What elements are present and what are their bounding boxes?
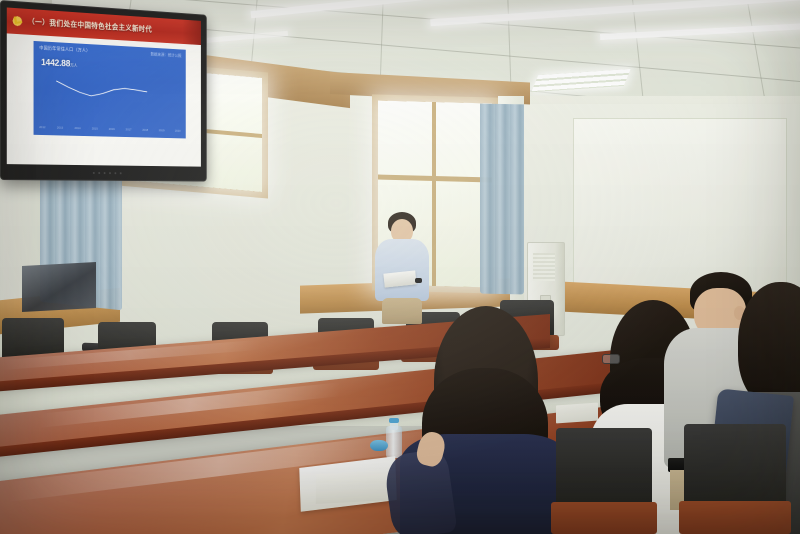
display-chin <box>7 166 201 179</box>
attendee-hair <box>738 282 800 408</box>
photo-scene: （一）我们处在中国特色社会主义新时代 中国历年常住人口（万人） 数据来源：统计公… <box>0 0 800 534</box>
chart-x-tick: 2017 <box>126 127 132 133</box>
chair-arm <box>679 501 791 534</box>
chart-x-tick: 2016 <box>109 127 115 133</box>
water-bottle <box>386 418 402 458</box>
chair[interactable] <box>556 428 652 534</box>
chart-line-svg <box>34 41 186 139</box>
wall-object-left <box>22 262 96 312</box>
chair[interactable] <box>684 424 786 534</box>
chart-x-tick: 2013 <box>57 126 63 132</box>
bottle-body <box>386 426 402 458</box>
ceiling-light-panel-4 <box>531 69 630 92</box>
party-emblem-icon <box>10 13 25 30</box>
curtain-right <box>480 104 524 295</box>
ceiling-light-panel-2 <box>430 0 800 26</box>
chart-x-tick: 2015 <box>92 127 98 133</box>
chart-x-tick: 2018 <box>142 128 148 134</box>
attendee-glasses <box>602 354 620 364</box>
notebook-page <box>316 470 393 504</box>
chart-x-tick: 2012 <box>39 125 45 131</box>
presenter-watch <box>415 278 422 283</box>
slide-banner-text: （一）我们处在中国特色社会主义新时代 <box>28 17 152 35</box>
banner-tail-decoration <box>182 20 201 45</box>
ceiling-light-panel-3 <box>600 22 800 40</box>
attendee-foreground-navy <box>404 306 568 534</box>
wall-display[interactable]: （一）我们处在中国特色社会主义新时代 中国历年常住人口（万人） 数据来源：统计公… <box>0 0 207 182</box>
slide-chart: 中国历年常住人口（万人） 数据来源：统计公报 1442.88万人 2012201… <box>34 41 186 139</box>
presenter-shirt <box>375 239 429 301</box>
chart-x-tick: 2019 <box>159 128 165 134</box>
chair-back <box>684 424 786 503</box>
chart-x-tick: 2014 <box>74 126 80 132</box>
chart-x-tick: 2020 <box>175 129 181 135</box>
cabinet-vent <box>533 253 555 281</box>
bottle-cap <box>389 418 399 423</box>
right-wall-panel <box>573 118 787 298</box>
display-screen[interactable]: （一）我们处在中国特色社会主义新时代 中国历年常住人口（万人） 数据来源：统计公… <box>7 7 201 166</box>
loose-bottle-cap <box>370 440 388 451</box>
presentation-slide: （一）我们处在中国特色社会主义新时代 中国历年常住人口（万人） 数据来源：统计公… <box>7 7 201 166</box>
chair-back <box>556 428 652 504</box>
chair-arm <box>551 502 657 534</box>
